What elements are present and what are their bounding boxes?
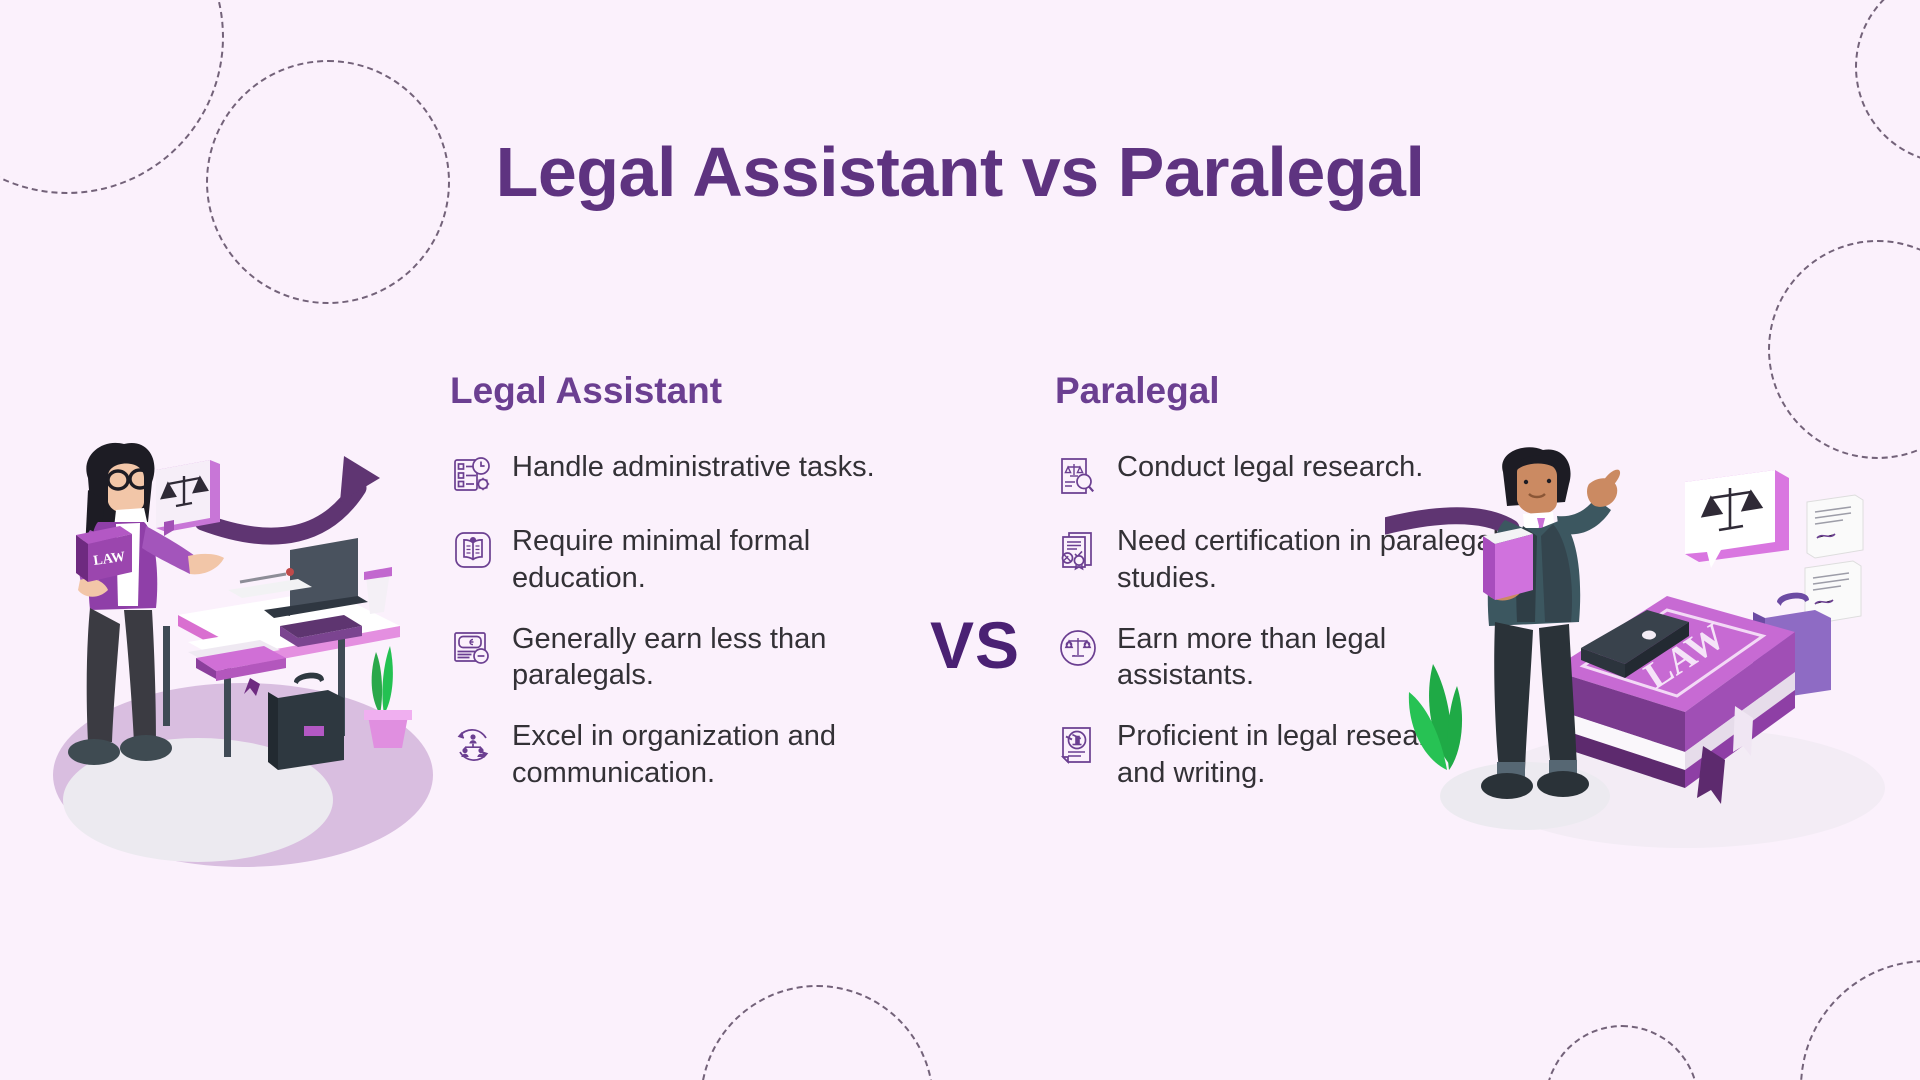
balance-scale-circle-icon <box>1055 625 1101 671</box>
dashed-circle <box>1800 960 1920 1080</box>
column-heading-paralegal: Paralegal <box>1055 372 1510 409</box>
infographic-canvas: Legal Assistant vs Paralegal <box>0 0 1920 1080</box>
feature-text: Excel in organization and communication. <box>512 718 902 792</box>
dashed-circle <box>700 985 934 1080</box>
open-book-icon <box>450 527 496 573</box>
list-item: Require minimal formal education. <box>450 523 905 597</box>
feature-text: Generally earn less than paralegals. <box>512 621 902 695</box>
list-item: Excel in organization and communication. <box>450 718 905 792</box>
dashed-circle <box>1545 1025 1699 1080</box>
feature-text: Handle administrative tasks. <box>512 449 875 486</box>
feature-list-legal-assistant: Handle administrative tasks. Require min… <box>450 449 905 792</box>
feature-text: Require minimal formal education. <box>512 523 902 597</box>
list-item: Generally earn less than paralegals. <box>450 621 905 695</box>
document-scales-magnifier-icon <box>1055 453 1101 499</box>
column-heading-legal-assistant: Legal Assistant <box>450 372 905 409</box>
page-title: Legal Assistant vs Paralegal <box>0 132 1920 212</box>
org-chart-circle-icon <box>450 722 496 768</box>
feature-text: Conduct legal research. <box>1117 449 1423 486</box>
dashed-circle <box>1768 240 1920 459</box>
legal-assistant-illustration: LAW <box>28 430 448 870</box>
comparison-columns: Legal Assistant <box>450 372 1530 816</box>
paralegal-illustration: LAW <box>1385 440 1905 860</box>
banknote-minus-icon <box>450 625 496 671</box>
checklist-clock-gear-icon <box>450 453 496 499</box>
vs-label: VS <box>905 612 1045 678</box>
certificate-seal-icon <box>1055 527 1101 573</box>
gavel-document-icon <box>1055 722 1101 768</box>
list-item: Handle administrative tasks. <box>450 449 905 499</box>
column-legal-assistant: Legal Assistant <box>450 372 905 816</box>
